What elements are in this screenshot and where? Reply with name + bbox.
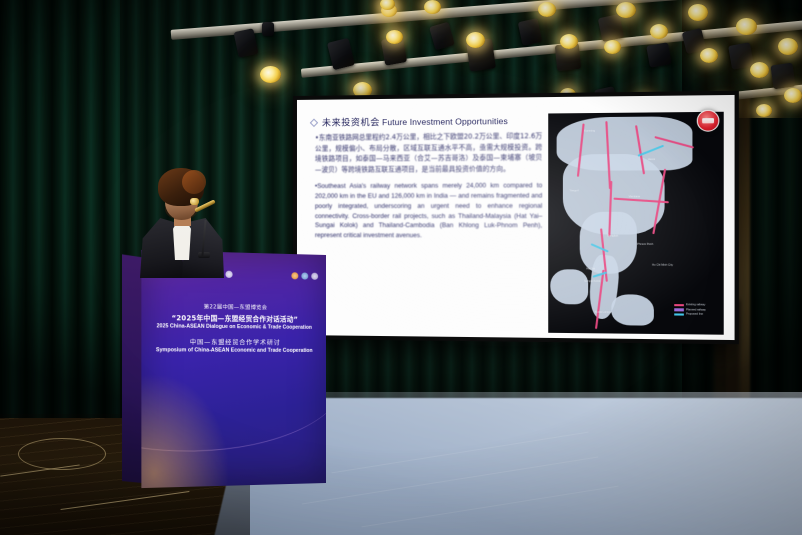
podium-banner-text: 第22届中国—东盟博览会 “2025年中国—东盟经贸合作对话活动” 2025 C… xyxy=(154,302,314,354)
legend-swatch-icon xyxy=(674,308,684,311)
stage-lamp xyxy=(650,24,668,39)
stage-light-fixture xyxy=(646,42,671,67)
microphone-head-icon xyxy=(190,198,199,205)
legend-label: Proposed line xyxy=(686,313,703,316)
projection-screen: 未来投资机会 Future Investment Opportunities •… xyxy=(293,91,739,345)
map-city-label: Yangon xyxy=(569,189,578,192)
slide-title-zh: 未来投资机会 xyxy=(322,115,380,129)
legend-item: Existing railway xyxy=(674,303,717,306)
map-city-label: Sungai Kolok xyxy=(584,280,600,283)
map-landmass-borneo xyxy=(612,294,655,325)
slide-title-en: Future Investment Opportunities xyxy=(382,116,508,127)
stage-lamp xyxy=(560,34,578,49)
stage-lamp xyxy=(260,66,281,83)
slide-bullet-chinese: •东南亚铁路网总里程约2.4万公里，相比之下欧盟20.2万公里、印度12.6万公… xyxy=(315,131,542,176)
map-landmass-sumatra xyxy=(551,269,589,304)
truss-bar-2 xyxy=(301,15,802,78)
stage-scene: 未来投资机会 Future Investment Opportunities •… xyxy=(0,0,802,535)
legend-swatch-icon xyxy=(674,313,684,316)
legend-swatch-icon xyxy=(674,304,684,307)
stage-light-fixture xyxy=(262,22,274,36)
stage-lamp xyxy=(756,104,772,117)
stage-lamp xyxy=(386,30,403,44)
southeast-asia-railway-map: Kunming Hanoi Vientiane Bangkok Phnom Pe… xyxy=(549,112,724,335)
podium-line-3: 2025 China-ASEAN Dialogue on Economic & … xyxy=(154,323,314,331)
map-city-label: Kunming xyxy=(584,129,595,132)
legend-item: Planned railway xyxy=(674,308,717,311)
stage-lamp xyxy=(784,88,802,103)
hair-highlight xyxy=(182,170,206,194)
stage-lamp xyxy=(778,38,798,55)
logo-mark-8-icon xyxy=(311,273,318,280)
map-city-label: Hanoi xyxy=(648,158,655,161)
screen-surface: 未来投资机会 Future Investment Opportunities •… xyxy=(297,95,735,340)
podium-line-4: 中国—东盟经贸合作学术研讨 xyxy=(154,336,314,346)
stage-light-fixture xyxy=(429,22,455,51)
stage-cable xyxy=(18,438,106,470)
diamond-bullet-icon xyxy=(310,119,318,128)
map-city-label: Vientiane xyxy=(629,195,640,198)
logo-row-gap xyxy=(236,274,289,275)
stage-lamp xyxy=(604,40,621,54)
stage-light-fixture xyxy=(518,18,543,46)
map-legend: Existing railway Planned railway Propose… xyxy=(674,303,717,318)
podium-line-2: “2025年中国—东盟经贸合作对话活动” xyxy=(154,311,314,323)
speaker-podium: 第22届中国—东盟博览会 “2025年中国—东盟经贸合作对话活动” 2025 C… xyxy=(122,249,326,488)
podium-front-panel: 第22届中国—东盟博览会 “2025年中国—东盟经贸合作对话活动” 2025 C… xyxy=(141,250,326,488)
slide-map-column: Kunming Hanoi Vientiane Bangkok Phnom Pe… xyxy=(549,105,724,333)
podium-side-panel xyxy=(122,254,144,483)
stage-lamp xyxy=(736,18,757,35)
stage-lamp xyxy=(424,0,441,14)
podium-glow xyxy=(141,373,229,488)
stage-lamp xyxy=(616,2,636,18)
microphone-base xyxy=(198,252,210,258)
podium-line-5: Symposium of China-ASEAN Economic and Tr… xyxy=(154,347,314,354)
stage-lamp xyxy=(688,4,708,21)
map-city-label: Bangkok xyxy=(607,235,618,238)
legend-label: Planned railway xyxy=(686,308,706,311)
map-city-label: Phnom Penh xyxy=(637,243,653,246)
stage-lamp xyxy=(700,48,718,63)
logo-mark-7-icon xyxy=(301,272,308,279)
stage-lamp xyxy=(538,2,556,17)
map-city-label: Hat Yai xyxy=(586,267,595,270)
map-city-label: Ho Chi Minh City xyxy=(652,264,673,267)
stage-lamp xyxy=(466,32,485,48)
stage-light-fixture xyxy=(770,63,795,90)
stage-lamp xyxy=(750,62,769,78)
slide-text-column: 未来投资机会 Future Investment Opportunities •… xyxy=(311,107,542,331)
map-city-label: Kuala Lumpur xyxy=(595,311,612,314)
podium-line-1: 第22届中国—东盟博览会 xyxy=(154,302,314,312)
presentation-slide: 未来投资机会 Future Investment Opportunities •… xyxy=(297,95,735,340)
stage-light-fixture xyxy=(598,14,625,42)
logo-mark-6-icon xyxy=(291,272,298,279)
red-stamp-badge-icon xyxy=(697,110,720,132)
presenter xyxy=(132,168,228,278)
slide-bullet-english: •Southeast Asia's railway network spans … xyxy=(315,181,542,242)
slide-title: 未来投资机会 Future Investment Opportunities xyxy=(311,114,542,129)
legend-label: Existing railway xyxy=(686,303,705,306)
legend-item: Proposed line xyxy=(674,313,717,317)
